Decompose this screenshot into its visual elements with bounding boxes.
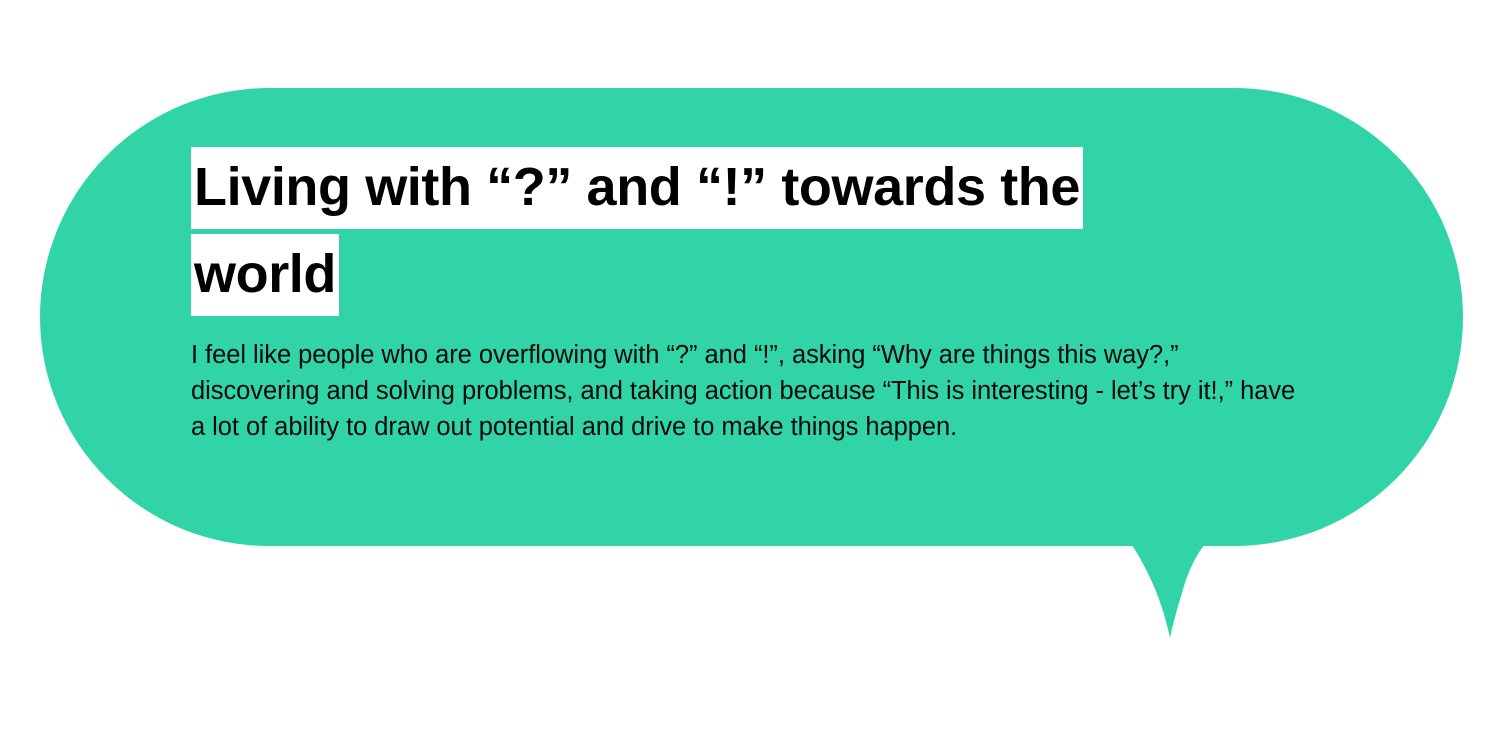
page-title-text: Living with “?” and “!” towards the worl…: [191, 147, 1083, 316]
speech-bubble: Living with “?” and “!” towards the worl…: [40, 88, 1463, 546]
canvas: Living with “?” and “!” towards the worl…: [0, 0, 1500, 746]
bubble-content: Living with “?” and “!” towards the worl…: [191, 144, 1321, 446]
speech-bubble-tail-icon: [1060, 528, 1240, 648]
page-title: Living with “?” and “!” towards the worl…: [191, 144, 1171, 319]
body-paragraph: I feel like people who are overflowing w…: [191, 337, 1309, 446]
